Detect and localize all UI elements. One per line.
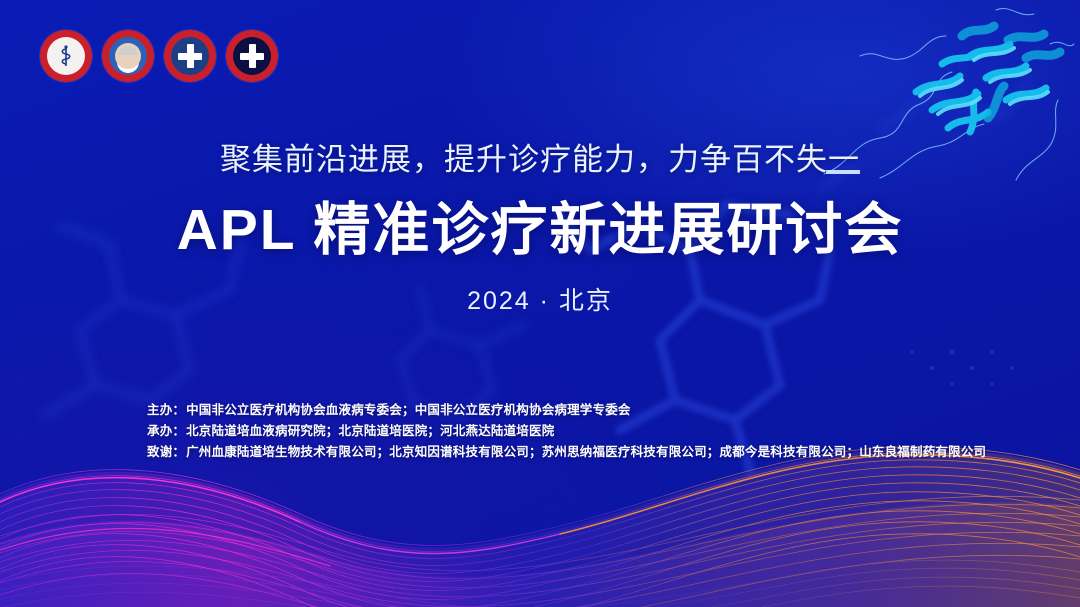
poster-main-title: APL 精准诊疗新进展研讨会 — [0, 198, 1080, 264]
credit-value: 中国非公立医疗机构协会血液病专委会；中国非公立医疗机构协会病理学专委会 — [186, 403, 631, 417]
logo-cnhha-emblem — [40, 30, 92, 82]
poster-event-meta: 2024 · 北京 — [0, 281, 1080, 317]
organizer-logo-row — [40, 30, 278, 82]
credit-value: 广州血康陆道培生物技术有限公司；北京知因谱科技有限公司；苏州思纳福医疗科技有限公… — [186, 445, 986, 459]
credits-block: 主办：中国非公立医疗机构协会血液病专委会；中国非公立医疗机构协会病理学专委会 承… — [147, 400, 986, 463]
credit-label: 承办： — [147, 424, 185, 438]
logo-inner — [233, 37, 271, 75]
credit-label: 致谢： — [147, 445, 185, 459]
logo-portrait-emblem — [102, 30, 154, 82]
poster-subtitle: 聚集前沿进展，提升诊疗能力，力争百不失一 — [0, 141, 1080, 178]
conference-poster: 聚集前沿进展，提升诊疗能力，力争百不失一 APL 精准诊疗新进展研讨会 2024… — [0, 0, 1080, 607]
credit-line-host: 主办：中国非公立医疗机构协会血液病专委会；中国非公立医疗机构协会病理学专委会 — [147, 400, 986, 421]
logo-inner — [47, 37, 85, 75]
logo-inner — [171, 37, 209, 75]
medical-cross-icon — [178, 44, 202, 68]
credit-line-acknowledgement: 致谢：广州血康陆道培生物技术有限公司；北京知因谱科技有限公司；苏州思纳福医疗科技… — [147, 442, 986, 463]
doctor-portrait-icon — [115, 43, 141, 69]
logo-dark-cross-emblem — [226, 30, 278, 82]
credit-label: 主办： — [147, 403, 185, 417]
logo-inner — [109, 37, 147, 75]
credit-line-organizer: 承办：北京陆道培血液病研究院；北京陆道培医院；河北燕达陆道培医院 — [147, 421, 986, 442]
credit-value: 北京陆道培血液病研究院；北京陆道培医院；河北燕达陆道培医院 — [186, 424, 554, 438]
logo-blue-cross-emblem — [164, 30, 216, 82]
medical-cross-icon — [240, 44, 264, 68]
caduceus-snake-icon — [55, 44, 77, 68]
